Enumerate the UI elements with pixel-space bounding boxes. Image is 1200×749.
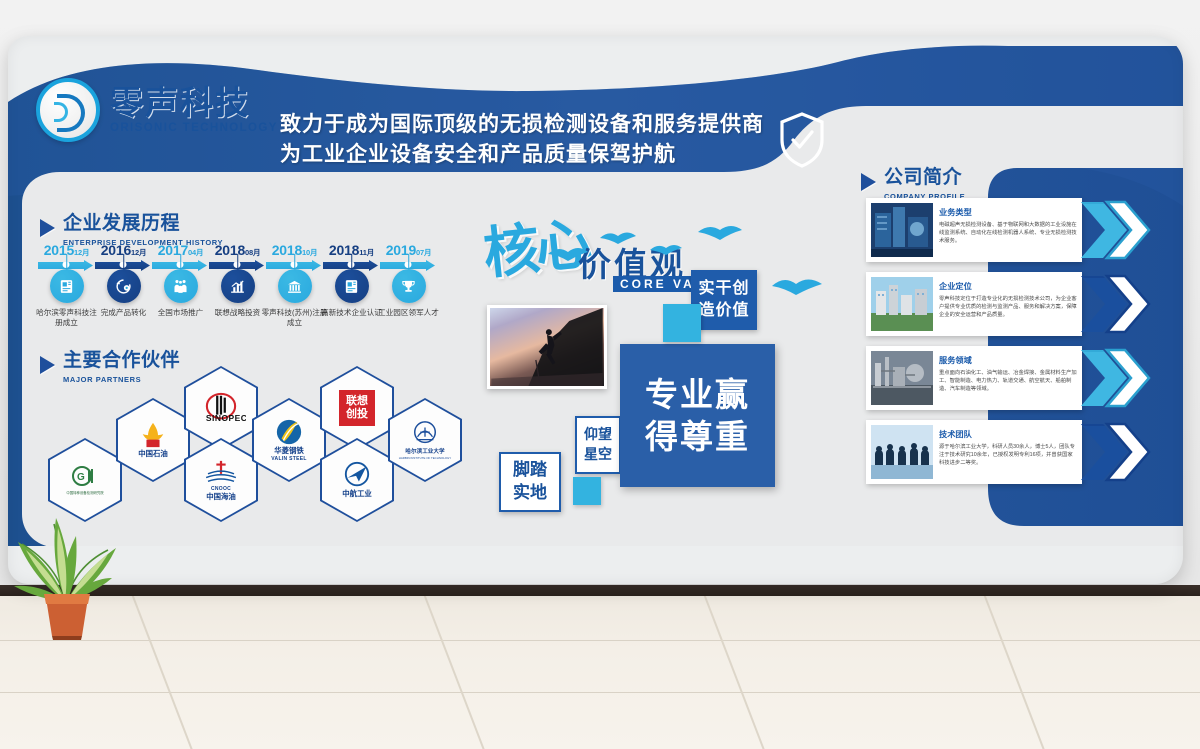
value-big-line2: 得尊重 bbox=[645, 416, 750, 457]
timeline-year: 2015 bbox=[44, 242, 74, 258]
partner-name-en: CNOOC bbox=[211, 486, 231, 492]
timeline-year: 2016 bbox=[101, 242, 131, 258]
logo-name-cn: 零声科技 bbox=[110, 86, 278, 121]
value-box-shigan-text: 实干创造价值 bbox=[698, 278, 749, 321]
timeline-item: 201704月全国市场推广 bbox=[152, 242, 209, 271]
gear-cycle-icon bbox=[107, 269, 141, 303]
slogan-line-1: 致力于成为国际顶级的无损检测设备和服务提供商 bbox=[280, 110, 825, 140]
profile-title-cn: 公司简介 bbox=[884, 168, 965, 189]
timeline-month: 04月 bbox=[188, 248, 203, 257]
profile-card-body: 电磁超声无损检测设备、基于物联网和大数据的工业设施在线监测系统、自动化在线检测机… bbox=[939, 221, 1077, 246]
profile-card-body: 零声科技定位于打造专业化的无损检测技术公司，为企业客户提供专业优质的检测与监测产… bbox=[939, 295, 1077, 320]
rock-climber-photo bbox=[487, 305, 607, 389]
profile-card: 企业定位零声科技定位于打造专业化的无损检测技术公司，为企业客户提供专业优质的检测… bbox=[866, 272, 1082, 336]
profile-card: 服务领域重点面向石油化工、油气输运、冶金焊接、金属材料生产加工、智能制造、电力热… bbox=[866, 346, 1082, 410]
triangle-bullet-icon bbox=[40, 219, 55, 237]
valin-steel-logo: 华菱钢铁VALIN STEEL bbox=[254, 400, 324, 480]
sonic-wave-circle-icon bbox=[36, 78, 100, 142]
slogan-block: 致力于成为国际顶级的无损检测设备和服务提供商 为工业企业设备安全和产品质量保驾护… bbox=[280, 110, 825, 171]
partner-hexagon: 中航工业 bbox=[320, 438, 394, 522]
value-box-jiaota: 脚踏实地 bbox=[499, 452, 561, 512]
value-box-jiaota-text: 脚踏实地 bbox=[513, 459, 547, 505]
timeline-item: 201810月零声科技(苏州)注册成立 bbox=[266, 242, 323, 271]
timeline-year: 2018 bbox=[272, 242, 302, 258]
triangle-bullet-icon bbox=[40, 356, 55, 374]
city-skyline-photo bbox=[871, 277, 933, 331]
timeline-year: 2018 bbox=[329, 242, 359, 258]
svg-text:G: G bbox=[77, 472, 85, 483]
profile-card: 业务类型电磁超声无损检测设备、基于物联网和大数据的工业设施在线监测系统、自动化在… bbox=[866, 198, 1082, 262]
partner-hexagon: CNOOC中国海油 bbox=[184, 438, 258, 522]
chevron-arrow-icon bbox=[1072, 424, 1106, 480]
slogan-line-2: 为工业企业设备安全和产品质量保驾护航 bbox=[280, 140, 825, 170]
value-box-yangwang-text: 仰望星空 bbox=[584, 425, 612, 464]
partner-name-en: VALIN STEEL bbox=[271, 456, 306, 462]
timeline-year: 2017 bbox=[158, 242, 188, 258]
cnooc-logo: CNOOC中国海油 bbox=[186, 440, 256, 520]
people-icon bbox=[164, 269, 198, 303]
shield-check-icon bbox=[778, 112, 826, 168]
profile-card-title: 企业定位 bbox=[939, 280, 1077, 292]
partner-name: 中航工业 bbox=[342, 490, 372, 499]
timeline-month: 11月 bbox=[359, 248, 374, 257]
sinopec-logo: SINOPEC bbox=[186, 368, 256, 448]
flying-bird-icon bbox=[768, 272, 828, 302]
timeline-item: 201811月高新技术企业认证 bbox=[323, 242, 380, 271]
partner-hexagon: 哈尔滨工业大学HARBIN INSTITUTE OF TECHNOLOGY bbox=[388, 398, 462, 482]
svg-text:SINOPEC: SINOPEC bbox=[206, 413, 246, 423]
timeline-month: 10月 bbox=[302, 248, 317, 257]
refinery-plant-photo bbox=[871, 351, 933, 405]
building-icon bbox=[278, 269, 312, 303]
timeline-month: 12月 bbox=[74, 248, 89, 257]
profile-card-body: 源于哈尔滨工业大学，科研人员30余人，博士5人，团队专注于技术研究10余年，已授… bbox=[939, 443, 1077, 468]
profile-card-body: 重点面向石油化工、油气输运、冶金焊接、金属材料生产加工、智能制造、电力热力、轨道… bbox=[939, 369, 1077, 394]
timeline-stem bbox=[180, 254, 182, 270]
decor-square-2 bbox=[573, 477, 601, 505]
chevron-arrow-icon bbox=[1072, 350, 1106, 406]
timeline-item: 201612月完成产品转化 bbox=[95, 242, 152, 271]
petrochina-logo: 中国石油 bbox=[118, 400, 188, 480]
lenovo-capital-logo: 联想创投 bbox=[322, 368, 392, 448]
profile-card-title: 技术团队 bbox=[939, 428, 1077, 440]
timeline-item: 201907月工业园区领军人才 bbox=[380, 242, 437, 271]
timeline-month: 07月 bbox=[416, 248, 431, 257]
certificate-icon bbox=[335, 269, 369, 303]
value-box-zhuanye: 专业赢 得尊重 bbox=[620, 344, 775, 487]
timeline-stem bbox=[408, 254, 410, 270]
timeline-year: 2019 bbox=[386, 242, 416, 258]
growth-chart-icon bbox=[221, 269, 255, 303]
avic-logo: 中航工业 bbox=[322, 440, 392, 520]
partner-name-en: HARBIN INSTITUTE OF TECHNOLOGY bbox=[399, 457, 451, 460]
culture-wall-panel: 零声科技 ORISONIC TECHNOLOGY 致力于成为国际顶级的无损检测设… bbox=[8, 36, 1183, 584]
timeline-stem bbox=[294, 254, 296, 270]
partner-hexagon: 联想创投 bbox=[320, 366, 394, 450]
value-big-line1: 专业赢 bbox=[645, 374, 750, 415]
partner-name: 中国海油 bbox=[206, 493, 236, 502]
profile-section-header: 公司简介 COMPANY PROFILE bbox=[861, 168, 965, 201]
timeline-stem bbox=[123, 254, 125, 270]
logo-name-en: ORISONIC TECHNOLOGY bbox=[110, 122, 278, 134]
triangle-bullet-icon bbox=[861, 173, 876, 191]
partner-name: 哈尔滨工业大学 bbox=[405, 449, 444, 455]
timeline-year: 2018 bbox=[215, 242, 245, 258]
decor-square-1 bbox=[663, 304, 701, 342]
timeline-stem bbox=[351, 254, 353, 270]
team-silhouette-photo bbox=[871, 425, 933, 479]
partner-name: 中国石油 bbox=[138, 450, 168, 459]
timeline-stem bbox=[237, 254, 239, 270]
timeline-item: 201808月联想战略投资 bbox=[209, 242, 266, 271]
partner-hexagon: 华菱钢铁VALIN STEEL bbox=[252, 398, 326, 482]
culture-wall-scene: 零声科技 ORISONIC TECHNOLOGY 致力于成为国际顶级的无损检测设… bbox=[0, 0, 1200, 749]
profile-card-title: 业务类型 bbox=[939, 206, 1077, 218]
timeline-label: 工业园区领军人才 bbox=[376, 308, 442, 318]
climber-silhouette-icon bbox=[490, 308, 604, 386]
potted-plant bbox=[8, 490, 126, 640]
trophy-icon bbox=[392, 269, 426, 303]
development-timeline: 201512月哈尔滨零声科技注册成立201612月完成产品转化201704月全国… bbox=[38, 242, 438, 347]
partners-title-cn: 主要合作伙伴 bbox=[63, 351, 180, 372]
partner-name: 华菱钢铁 bbox=[274, 447, 304, 456]
timeline-month: 12月 bbox=[131, 248, 146, 257]
timeline-month: 08月 bbox=[245, 248, 260, 257]
profile-card-title: 服务领域 bbox=[939, 354, 1077, 366]
partner-name: 联想创投 bbox=[339, 390, 375, 426]
timeline-stem bbox=[66, 254, 68, 270]
tiled-floor bbox=[0, 596, 1200, 749]
partner-hexagon: SINOPEC bbox=[184, 366, 258, 450]
value-box-yangwang: 仰望星空 bbox=[575, 416, 621, 474]
industrial-equipment-photo bbox=[871, 203, 933, 257]
company-logo: 零声科技 ORISONIC TECHNOLOGY bbox=[36, 78, 278, 142]
history-title-cn: 企业发展历程 bbox=[63, 214, 223, 235]
profile-card: 技术团队源于哈尔滨工业大学，科研人员30余人，博士5人，团队专注于技术研究10余… bbox=[866, 420, 1082, 484]
certificate-icon bbox=[50, 269, 84, 303]
chevron-arrow-icon bbox=[1072, 202, 1106, 258]
hit-university-logo: 哈尔滨工业大学HARBIN INSTITUTE OF TECHNOLOGY bbox=[390, 400, 460, 480]
chevron-arrow-icon bbox=[1072, 276, 1106, 332]
timeline-item: 201512月哈尔滨零声科技注册成立 bbox=[38, 242, 95, 271]
partner-hexagon: 中国石油 bbox=[116, 398, 190, 482]
